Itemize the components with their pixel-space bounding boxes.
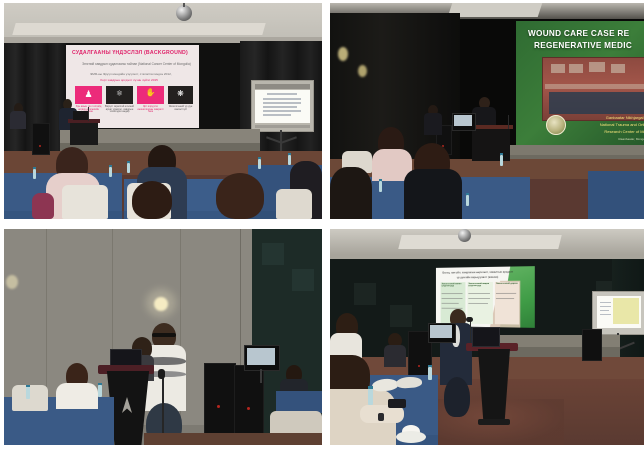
slide-row-line [496, 293, 516, 294]
panel-chair [12, 385, 48, 411]
slide-box-caption-3: Эрт илрүүлэг оношилгооны хамралт бага [136, 106, 165, 114]
slide-credit-line-1: Ganbaatar Nikhjargal M [572, 115, 644, 120]
ceiling-rod [183, 3, 185, 7]
photo-bottom-right: Бүтэц, зан үйл, хандлагын өөрчлөлт, хяна… [330, 229, 644, 445]
loudspeaker-led [247, 407, 250, 410]
disco-ball-icon [458, 229, 471, 242]
microphone-stand [470, 321, 471, 343]
stage-monitor-screen [430, 325, 452, 338]
water-bottle [379, 181, 382, 192]
wall-panel [390, 305, 412, 327]
audience-member-head-front [330, 167, 372, 219]
building-window [589, 62, 605, 72]
aux-doc-line [263, 102, 301, 104]
stage-monitor-screen [247, 348, 275, 365]
water-bottle-cap [466, 193, 469, 195]
slide-row-line [442, 303, 459, 304]
slide-row-line [442, 298, 463, 299]
microphone-stand [508, 115, 509, 129]
slide-column-2-header: Эмчилгээний явцын үзүүлэлтүүд [468, 283, 492, 288]
aux-doc-line [263, 110, 301, 112]
cells-icon: ❋ [168, 90, 193, 98]
slide-row-line [442, 293, 463, 294]
monitor-stand [260, 369, 262, 383]
wall-dark-panel [262, 243, 284, 265]
wall-sconce-icon [358, 65, 367, 77]
laptop [472, 327, 500, 347]
audience-member-body [404, 169, 462, 219]
slide-row-line [468, 293, 490, 294]
slide-title-line-2: REGENERATIVE MEDIC [534, 41, 632, 50]
building-window [551, 64, 565, 73]
audience-member-right-head [216, 173, 264, 219]
podium-base [478, 419, 510, 425]
building-entrance-glass [549, 92, 644, 114]
disco-ball-icon [176, 5, 192, 21]
aux-doc-line [263, 98, 301, 100]
handbag [32, 193, 54, 219]
water-bottle-cap [500, 153, 503, 155]
aux-screen-statusbar [255, 125, 310, 128]
water-bottle-cap [109, 165, 112, 167]
wall-sconce-icon [6, 275, 18, 289]
aux-screen-toolbar [255, 84, 310, 89]
staff-member-body [384, 345, 406, 367]
microphone-stand [162, 377, 164, 435]
stage-monitor-screen [454, 115, 472, 126]
laptop [73, 111, 88, 120]
loudspeaker [32, 123, 50, 155]
mobile-phone [388, 399, 406, 408]
institution-emblem [546, 115, 566, 135]
water-bottle-cap [428, 365, 432, 367]
ceiling-soffit [448, 3, 543, 17]
water-bottle [428, 367, 432, 380]
presenter-glasses-icon [152, 333, 176, 337]
water-bottle [98, 385, 102, 397]
slide-column-3 [495, 282, 519, 325]
slide-title-line-2: үр дүнгийн харьцуулалт (жишээ) [457, 275, 498, 279]
photo-top-right: WOUND CARE CASE RE REGENERATIVE MEDIC Ga… [330, 3, 644, 219]
water-bottle-cap [379, 179, 382, 181]
water-bottle-cap [258, 157, 261, 159]
audience-member-front-head [132, 181, 172, 219]
slide-subtitle-2: ЭМЯ-ны Эрүүл мэндийн үзүүлэлт, статистик… [90, 72, 172, 76]
water-bottle [288, 155, 291, 165]
water-bottle [368, 389, 373, 405]
slide-column-3-header: Эмчилгээний дараах [496, 283, 518, 285]
water-bottle-cap [368, 386, 373, 389]
building-window [611, 64, 625, 73]
wall-sconce-glow [146, 289, 176, 317]
slide-column-1-header: Эмчилгээний өмнөх үзүүлэлтүүд [442, 283, 465, 288]
microphone-head-icon [466, 317, 473, 322]
microphone-stand [88, 107, 89, 121]
audience-table-right [588, 171, 644, 219]
aux-slide-line [600, 306, 611, 307]
hall-floor [144, 433, 322, 445]
water-bottle [258, 159, 261, 169]
slide-subtitle-1: Элэгний хавдрын судалгааны тайлан (Natio… [82, 62, 191, 66]
slide-credit-line-3: Research Center of Mon [568, 129, 644, 134]
photo-top-left: СУДАЛГААНЫ ҮНДЭСЛЭЛ (BACKGROUND) Элэгний… [4, 3, 322, 219]
slide-title-line-1: WOUND CARE CASE RE [528, 29, 629, 38]
virus-icon: ⚛ [106, 90, 133, 98]
staff-member-body [424, 113, 442, 135]
aux-doc-line [263, 114, 291, 116]
projection-screen-main: WOUND CARE CASE RE REGENERATIVE MEDIC Ga… [516, 21, 644, 145]
coffee-saucer [396, 431, 426, 443]
aux-screen-document [255, 90, 310, 123]
slide-row-line [496, 298, 514, 299]
ceiling-beam [12, 23, 265, 35]
ceiling-soffit [398, 235, 561, 249]
slide-subtitle-3: Хорт хавдрын эрсдэлт хүчин зүйлс 2015 [100, 78, 158, 82]
water-bottle [26, 387, 30, 399]
panelist-body [56, 383, 98, 409]
aux-slide-line [600, 310, 609, 311]
slide-title: СУДАЛГААНЫ ҮНДЭСЛЭЛ (BACKGROUND) [72, 50, 188, 56]
slide-row-line [468, 298, 490, 299]
water-bottle [109, 167, 112, 177]
aux-screen-slide [597, 296, 641, 328]
person-icon: ♟ [75, 90, 102, 99]
podium [472, 127, 510, 161]
presenter-trousers [444, 377, 470, 417]
audience-chair [276, 189, 312, 219]
aux-slide-panel [613, 298, 639, 324]
water-bottle-cap [98, 383, 102, 385]
building-window [569, 64, 583, 73]
water-bottle [500, 155, 503, 166]
aux-slide-line [600, 302, 611, 303]
slide-box-caption-2: Вирүст гаралтай элэгний архаг үрэвсэл, х… [105, 106, 134, 114]
water-bottle-cap [33, 167, 36, 169]
seated-staff-body [10, 111, 26, 129]
wristwatch-icon [378, 413, 384, 421]
hand-icon: ✋ [137, 89, 164, 97]
audience-chair [62, 185, 108, 219]
wall-dark-panel [292, 269, 314, 291]
loudspeaker-led [39, 145, 41, 147]
slide-box-caption-4: Эмчилгээний үр дүн хангалтгүй [167, 106, 194, 111]
water-bottle-cap [26, 385, 30, 387]
slide-credit-line-4: Ulaanbaatar, Mongolia [576, 137, 644, 141]
wall-panel [354, 283, 376, 305]
water-bottle-cap [288, 153, 291, 155]
water-bottle [33, 169, 36, 179]
aux-slide-line [600, 314, 611, 315]
slide-credit-line-2: National Trauma and Ortho [566, 122, 644, 127]
photo-bottom-left [4, 229, 322, 445]
microphone-head-icon [158, 369, 165, 379]
aux-doc-header [267, 93, 297, 95]
building-facade-band [545, 84, 644, 89]
aux-doc-line [263, 106, 297, 108]
wall-sconce-icon [338, 47, 348, 61]
loudspeaker-led [217, 405, 220, 408]
podium [70, 121, 98, 145]
side-table-right [276, 391, 322, 413]
water-bottle [466, 195, 469, 206]
photo-collage: СУДАЛГААНЫ ҮНДЭСЛЭЛ (BACKGROUND) Элэгний… [0, 0, 644, 449]
loudspeaker-rear [582, 329, 602, 361]
aux-projection-screen [251, 80, 314, 132]
water-bottle [127, 163, 130, 173]
hospital-building-photo [542, 57, 644, 121]
water-bottle-cap [127, 161, 130, 163]
slide-row-line [468, 303, 488, 304]
